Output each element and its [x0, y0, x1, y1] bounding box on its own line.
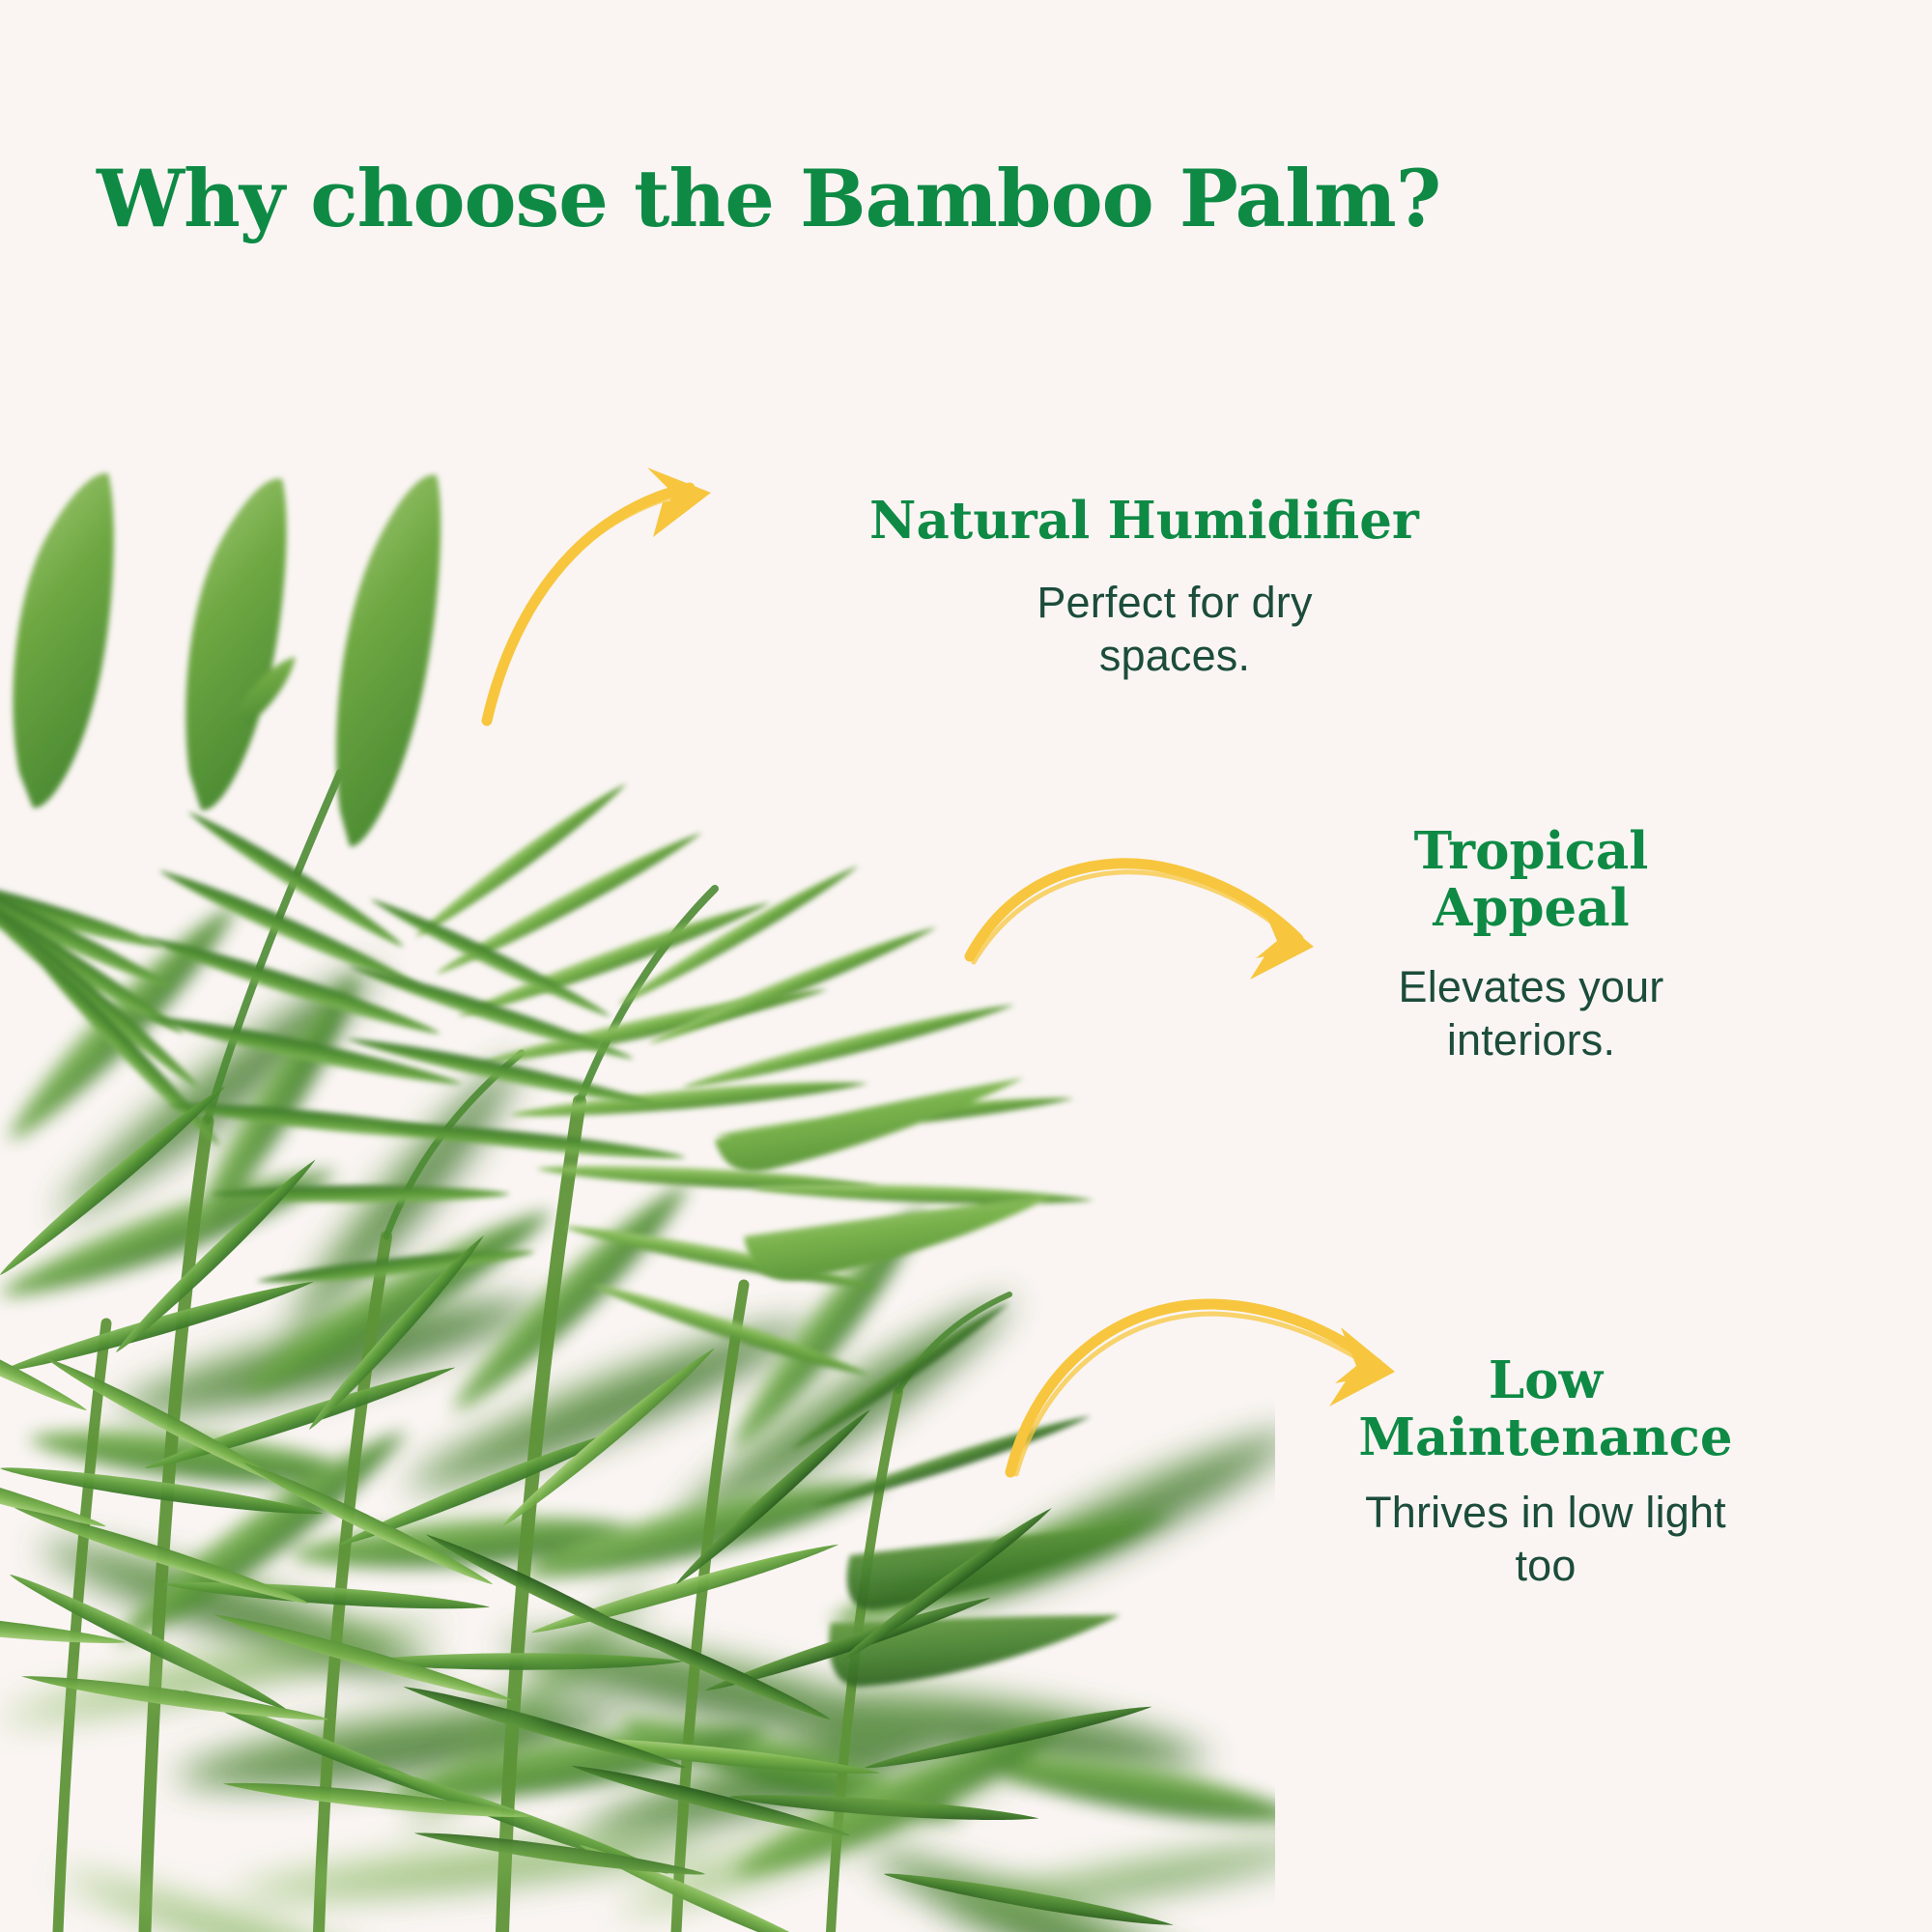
- page-title: Why choose the Bamboo Palm?: [97, 160, 1440, 239]
- feature-low-maintenance: Low Maintenance Thrives in low light too: [1352, 1352, 1739, 1593]
- feature-description: Thrives in low light too: [1352, 1487, 1739, 1593]
- feature-description: Perfect for dry spaces.: [991, 577, 1358, 683]
- curved-arrow-right-icon: [966, 850, 1333, 1034]
- poster-canvas: Why choose the Bamboo Palm? Natural Humi…: [0, 0, 1932, 1932]
- curved-arrow-right-icon: [1005, 1275, 1410, 1478]
- feature-title: Tropical Appeal: [1357, 823, 1705, 938]
- feature-tropical-appeal: Tropical Appeal Elevates your interiors.: [1357, 823, 1705, 1067]
- feature-title: Low Maintenance: [1352, 1352, 1739, 1467]
- curved-arrow-right-icon: [483, 464, 734, 724]
- feature-natural-humidifier: Natural Humidifier Perfect for dry space…: [869, 493, 1497, 683]
- feature-title: Natural Humidifier: [869, 493, 1497, 550]
- feature-description: Elevates your interiors.: [1357, 961, 1705, 1067]
